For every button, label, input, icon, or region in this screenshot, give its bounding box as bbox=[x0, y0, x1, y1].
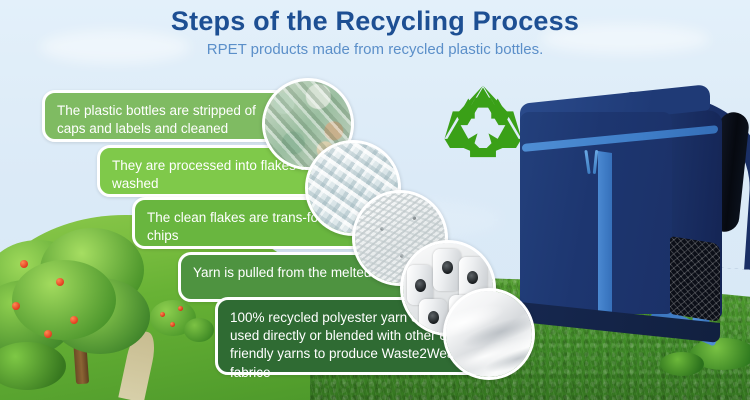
tree-canopy bbox=[12, 260, 116, 340]
step-label-1: The plastic bottles are stripped of caps… bbox=[57, 103, 256, 136]
apple-fruit bbox=[44, 330, 52, 338]
page-subtitle: RPET products made from recycled plastic… bbox=[0, 41, 750, 58]
step-box-1[interactable]: The plastic bottles are stripped of caps… bbox=[42, 90, 292, 142]
infographic-canvas: Steps of the Recycling Process RPET prod… bbox=[0, 0, 750, 400]
tree-canopy-lower bbox=[0, 342, 66, 390]
photo-white-fabric bbox=[443, 288, 535, 380]
apple-fruit bbox=[20, 260, 28, 268]
cooler-backpack-image bbox=[498, 86, 750, 372]
backpack-front-strap bbox=[598, 151, 612, 315]
backpack-mesh-pocket bbox=[670, 236, 720, 322]
apple-fruit bbox=[56, 278, 64, 286]
page-title: Steps of the Recycling Process bbox=[0, 6, 750, 37]
apple-fruit bbox=[12, 302, 20, 310]
apple-fruit bbox=[70, 316, 78, 324]
